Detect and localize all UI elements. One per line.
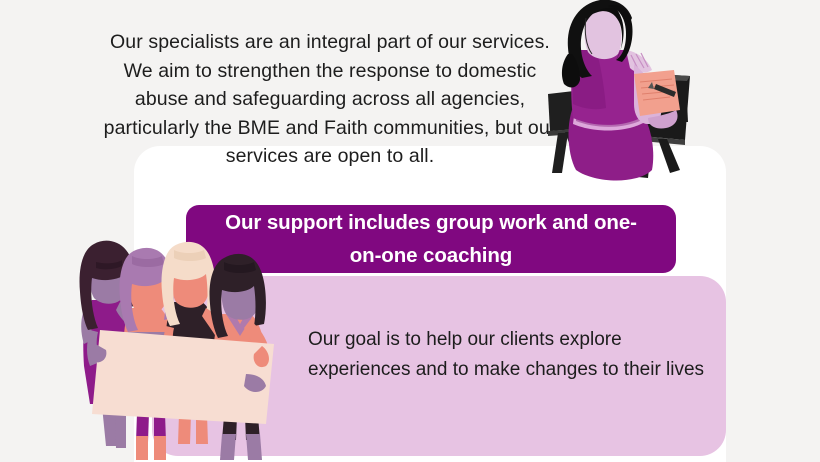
goal-paragraph: Our goal is to help our clients explore … xyxy=(308,325,708,384)
poster-canvas: Our specialists are an integral part of … xyxy=(0,0,820,462)
intro-paragraph: Our specialists are an integral part of … xyxy=(100,28,560,171)
four-women-holding-banner-icon xyxy=(76,236,298,462)
woman-writing-at-desk-icon xyxy=(548,0,748,188)
